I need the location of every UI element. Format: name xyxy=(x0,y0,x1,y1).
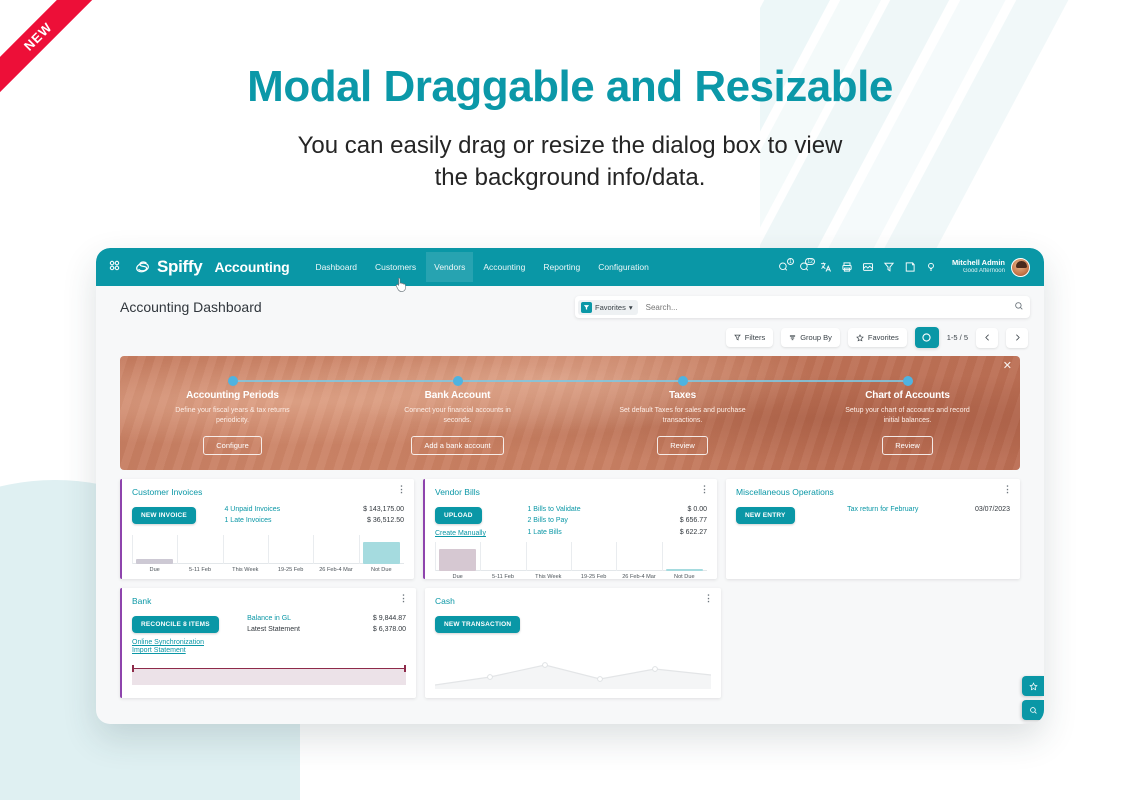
row-label: Tax return for February xyxy=(847,504,918,515)
card-title: Cash xyxy=(435,596,711,606)
axis-tick-label: Due xyxy=(132,567,177,575)
search-bar[interactable]: Favorites ▾ xyxy=(575,296,1030,318)
step-dot-icon xyxy=(228,376,238,386)
row-value: $ 9,844.87 xyxy=(373,613,406,624)
new-ribbon-label: NEW xyxy=(0,0,107,105)
app-window: Spiffy Accounting Dashboard Customers Ve… xyxy=(96,248,1044,724)
activity-badge: 12 xyxy=(805,258,815,265)
user-name: Mitchell Admin xyxy=(952,259,1005,268)
review-coa-button[interactable]: Review xyxy=(882,436,933,455)
table-row[interactable]: 1 Late Invoices $ 36,512.50 xyxy=(224,515,404,526)
messages-badge: 1 xyxy=(787,258,794,265)
axis-tick-label: 5-11 Feb xyxy=(480,574,525,582)
grid-apps-icon[interactable] xyxy=(108,259,121,275)
page-root: NEW Modal Draggable and Resizable You ca… xyxy=(0,0,1140,800)
row-label: 2 Bills to Pay xyxy=(527,515,567,526)
list-view-toggle[interactable] xyxy=(915,327,939,348)
filter-facet-icon xyxy=(581,302,592,313)
table-row[interactable]: 1 Late Bills $ 622.27 xyxy=(527,527,707,538)
user-greeting: Good Afternoon xyxy=(952,268,1005,275)
favorites-facet[interactable]: Favorites ▾ xyxy=(578,300,638,315)
app-navbar: Spiffy Accounting Dashboard Customers Ve… xyxy=(96,248,1044,286)
close-icon[interactable]: ✕ xyxy=(1003,361,1012,372)
table-row[interactable]: Tax return for February 03/07/2023 xyxy=(847,504,1010,515)
configure-button[interactable]: Configure xyxy=(203,436,262,455)
pager-previous-button[interactable] xyxy=(976,328,998,348)
step-dot-icon xyxy=(903,376,913,386)
mouse-cursor-icon xyxy=(394,276,407,298)
chevron-down-icon[interactable]: ▾ xyxy=(629,303,633,312)
table-row[interactable]: Latest Statement $ 6,378.00 xyxy=(247,624,406,635)
onboarding-banner: ✕ Accounting Periods Define your fiscal … xyxy=(120,356,1020,470)
row-value: $ 36,512.50 xyxy=(367,515,404,526)
add-bank-account-button[interactable]: Add a bank account xyxy=(411,436,503,455)
row-label: Balance in GL xyxy=(247,613,291,624)
row-label: 4 Unpaid Invoices xyxy=(224,504,280,515)
axis-tick-label: 26 Feb-4 Mar xyxy=(313,567,358,575)
table-row[interactable]: 1 Bills to Validate $ 0.00 xyxy=(527,504,707,515)
group-by-label: Group By xyxy=(800,333,832,342)
page-title: Modal Draggable and Resizable xyxy=(0,62,1140,112)
axis-tick-label: Not Due xyxy=(662,574,707,582)
axis-tick-label: 19-25 Feb xyxy=(268,567,313,575)
user-menu[interactable]: Mitchell Admin Good Afternoon xyxy=(952,258,1030,277)
row-value: $ 6,378.00 xyxy=(373,624,406,635)
card-title: Bank xyxy=(132,596,406,606)
page-subtitle: You can easily drag or resize the dialog… xyxy=(0,130,1140,194)
card-title: Customer Invoices xyxy=(132,487,404,497)
breadcrumb: Accounting Dashboard xyxy=(120,299,262,315)
new-invoice-button[interactable]: NEW INVOICE xyxy=(132,507,196,524)
menu-item-reporting[interactable]: Reporting xyxy=(535,252,588,282)
card-menu-icon[interactable]: ⋮ xyxy=(700,486,709,492)
card-bank: ⋮ Bank RECONCILE 8 ITEMS Online Synchron… xyxy=(120,588,416,698)
step-description: Define your fiscal years & tax returns p… xyxy=(120,406,345,426)
axis-tick-label: Not Due xyxy=(359,567,404,575)
filters-label: Filters xyxy=(745,333,765,342)
new-entry-button[interactable]: NEW ENTRY xyxy=(736,507,795,524)
row-label: Latest Statement xyxy=(247,624,300,635)
row-value: $ 0.00 xyxy=(688,504,707,515)
step-connector xyxy=(233,380,346,382)
card-title: Vendor Bills xyxy=(435,487,707,497)
menu-item-vendors[interactable]: Vendors xyxy=(426,252,473,282)
onboarding-step-chart-of-accounts: Chart of Accounts Setup your chart of ac… xyxy=(795,356,1020,470)
gallery-icon[interactable] xyxy=(862,261,874,273)
group-by-button[interactable]: Group By xyxy=(781,328,840,347)
step-title: Accounting Periods xyxy=(120,390,345,401)
page-subtitle-line1: You can easily drag or resize the dialog… xyxy=(0,130,1140,162)
translate-icon[interactable] xyxy=(820,261,832,273)
activity-icon[interactable]: 12 xyxy=(799,261,811,273)
table-row[interactable]: Balance in GL $ 9,844.87 xyxy=(247,613,406,624)
search-icon[interactable] xyxy=(1014,298,1024,316)
pager-next-button[interactable] xyxy=(1006,328,1028,348)
user-info: Mitchell Admin Good Afternoon xyxy=(952,259,1005,275)
star-tool-button[interactable] xyxy=(1022,676,1044,696)
import-statement-link[interactable]: Import Statement xyxy=(132,647,247,654)
step-dot-icon xyxy=(678,376,688,386)
messages-icon[interactable]: 1 xyxy=(778,261,790,273)
control-panel: Accounting Dashboard Favorites ▾ xyxy=(96,286,1044,348)
menu-item-configuration[interactable]: Configuration xyxy=(590,252,657,282)
favorites-facet-label: Favorites xyxy=(595,303,626,312)
cash-balance-chart xyxy=(435,639,711,689)
avatar[interactable] xyxy=(1011,258,1030,277)
view-controls: Filters Group By Favorites 1-5 / 5 xyxy=(120,327,1030,348)
brand-name: Spiffy xyxy=(157,257,202,277)
row-value: 03/07/2023 xyxy=(975,504,1010,515)
onboarding-step-accounting-periods: Accounting Periods Define your fiscal ye… xyxy=(120,356,345,470)
axis-tick-label: 5-11 Feb xyxy=(177,567,222,575)
axis-tick-label: This Week xyxy=(223,567,268,575)
onboarding-steps: Accounting Periods Define your fiscal ye… xyxy=(120,356,1020,470)
card-title: Miscellaneous Operations xyxy=(736,487,1010,497)
favorites-label: Favorites xyxy=(868,333,899,342)
current-app-name: Accounting xyxy=(214,259,289,275)
card-menu-icon[interactable]: ⋮ xyxy=(1003,486,1012,492)
step-connector xyxy=(795,380,908,382)
navbar-systray: 1 12 xyxy=(778,258,1034,277)
card-vendor-bills: ⋮ Vendor Bills UPLOAD Create Manually 1 … xyxy=(423,479,717,579)
card-miscellaneous-operations: ⋮ Miscellaneous Operations NEW ENTRY Tax… xyxy=(726,479,1020,579)
online-synchronization-link[interactable]: Online Synchronization xyxy=(132,639,247,646)
step-description: Setup your chart of accounts and record … xyxy=(795,406,1020,426)
floating-toolbar xyxy=(1022,676,1044,724)
reconcile-items-button[interactable]: RECONCILE 8 ITEMS xyxy=(132,616,219,633)
row-value: $ 143,175.00 xyxy=(363,504,404,515)
table-row[interactable]: 2 Bills to Pay $ 656.77 xyxy=(527,515,707,526)
new-ribbon: NEW xyxy=(0,0,120,120)
create-manually-link[interactable]: Create Manually xyxy=(435,530,527,537)
axis-tick-label: This Week xyxy=(526,574,571,582)
axis-tick-label: Due xyxy=(435,574,480,582)
card-customer-invoices: ⋮ Customer Invoices NEW INVOICE 4 Unpaid… xyxy=(120,479,414,579)
filter-funnel-icon[interactable] xyxy=(883,261,895,273)
search-tool-button[interactable] xyxy=(1022,700,1044,720)
new-transaction-button[interactable]: NEW TRANSACTION xyxy=(435,616,520,633)
row-value: $ 656.77 xyxy=(680,515,707,526)
note-icon[interactable] xyxy=(904,261,916,273)
dashboard-cards-row-2: ⋮ Bank RECONCILE 8 ITEMS Online Synchron… xyxy=(120,588,1020,698)
card-menu-icon[interactable]: ⋮ xyxy=(399,595,408,601)
vendor-bills-chart: Due 5-11 Feb This Week 19-25 Feb 26 Feb-… xyxy=(435,542,707,582)
step-title: Bank Account xyxy=(345,390,570,401)
table-row[interactable]: 4 Unpaid Invoices $ 143,175.00 xyxy=(224,504,404,515)
menu-item-dashboard[interactable]: Dashboard xyxy=(307,252,365,282)
brand-logo[interactable]: Spiffy xyxy=(133,257,202,277)
step-title: Taxes xyxy=(570,390,795,401)
step-dot-icon xyxy=(453,376,463,386)
card-cash: ⋮ Cash NEW TRANSACTION xyxy=(425,588,721,698)
onboarding-step-taxes: Taxes Set default Taxes for sales and pu… xyxy=(570,356,795,470)
print-icon[interactable] xyxy=(841,261,853,273)
card-menu-icon[interactable]: ⋮ xyxy=(704,595,713,601)
page-subtitle-line2: the background info/data. xyxy=(0,162,1140,194)
bulb-icon[interactable] xyxy=(925,261,937,273)
row-label: 1 Late Invoices xyxy=(224,515,271,526)
spiffy-mark-icon xyxy=(133,258,152,277)
row-label: 1 Late Bills xyxy=(527,527,561,538)
card-menu-icon[interactable]: ⋮ xyxy=(397,486,406,492)
upload-button[interactable]: UPLOAD xyxy=(435,507,482,524)
review-taxes-button[interactable]: Review xyxy=(657,436,708,455)
step-title: Chart of Accounts xyxy=(795,390,1020,401)
main-menu: Dashboard Customers Vendors Accounting R… xyxy=(307,252,656,282)
bank-balance-chart xyxy=(132,659,406,685)
search-input[interactable] xyxy=(646,303,1014,312)
favorites-button[interactable]: Favorites xyxy=(848,328,907,347)
customer-invoices-chart: Due 5-11 Feb This Week 19-25 Feb 26 Feb-… xyxy=(132,535,404,575)
menu-item-accounting[interactable]: Accounting xyxy=(475,252,533,282)
filters-button[interactable]: Filters xyxy=(726,328,773,347)
pager-label: 1-5 / 5 xyxy=(947,333,968,342)
row-value: $ 622.27 xyxy=(680,527,707,538)
onboarding-step-bank-account: Bank Account Connect your financial acco… xyxy=(345,356,570,470)
dashboard-cards-row-1: ⋮ Customer Invoices NEW INVOICE 4 Unpaid… xyxy=(120,479,1020,579)
axis-tick-label: 26 Feb-4 Mar xyxy=(616,574,661,582)
step-description: Connect your financial accounts in secon… xyxy=(345,406,570,426)
step-description: Set default Taxes for sales and purchase… xyxy=(570,406,795,426)
axis-tick-label: 19-25 Feb xyxy=(571,574,616,582)
row-label: 1 Bills to Validate xyxy=(527,504,580,515)
